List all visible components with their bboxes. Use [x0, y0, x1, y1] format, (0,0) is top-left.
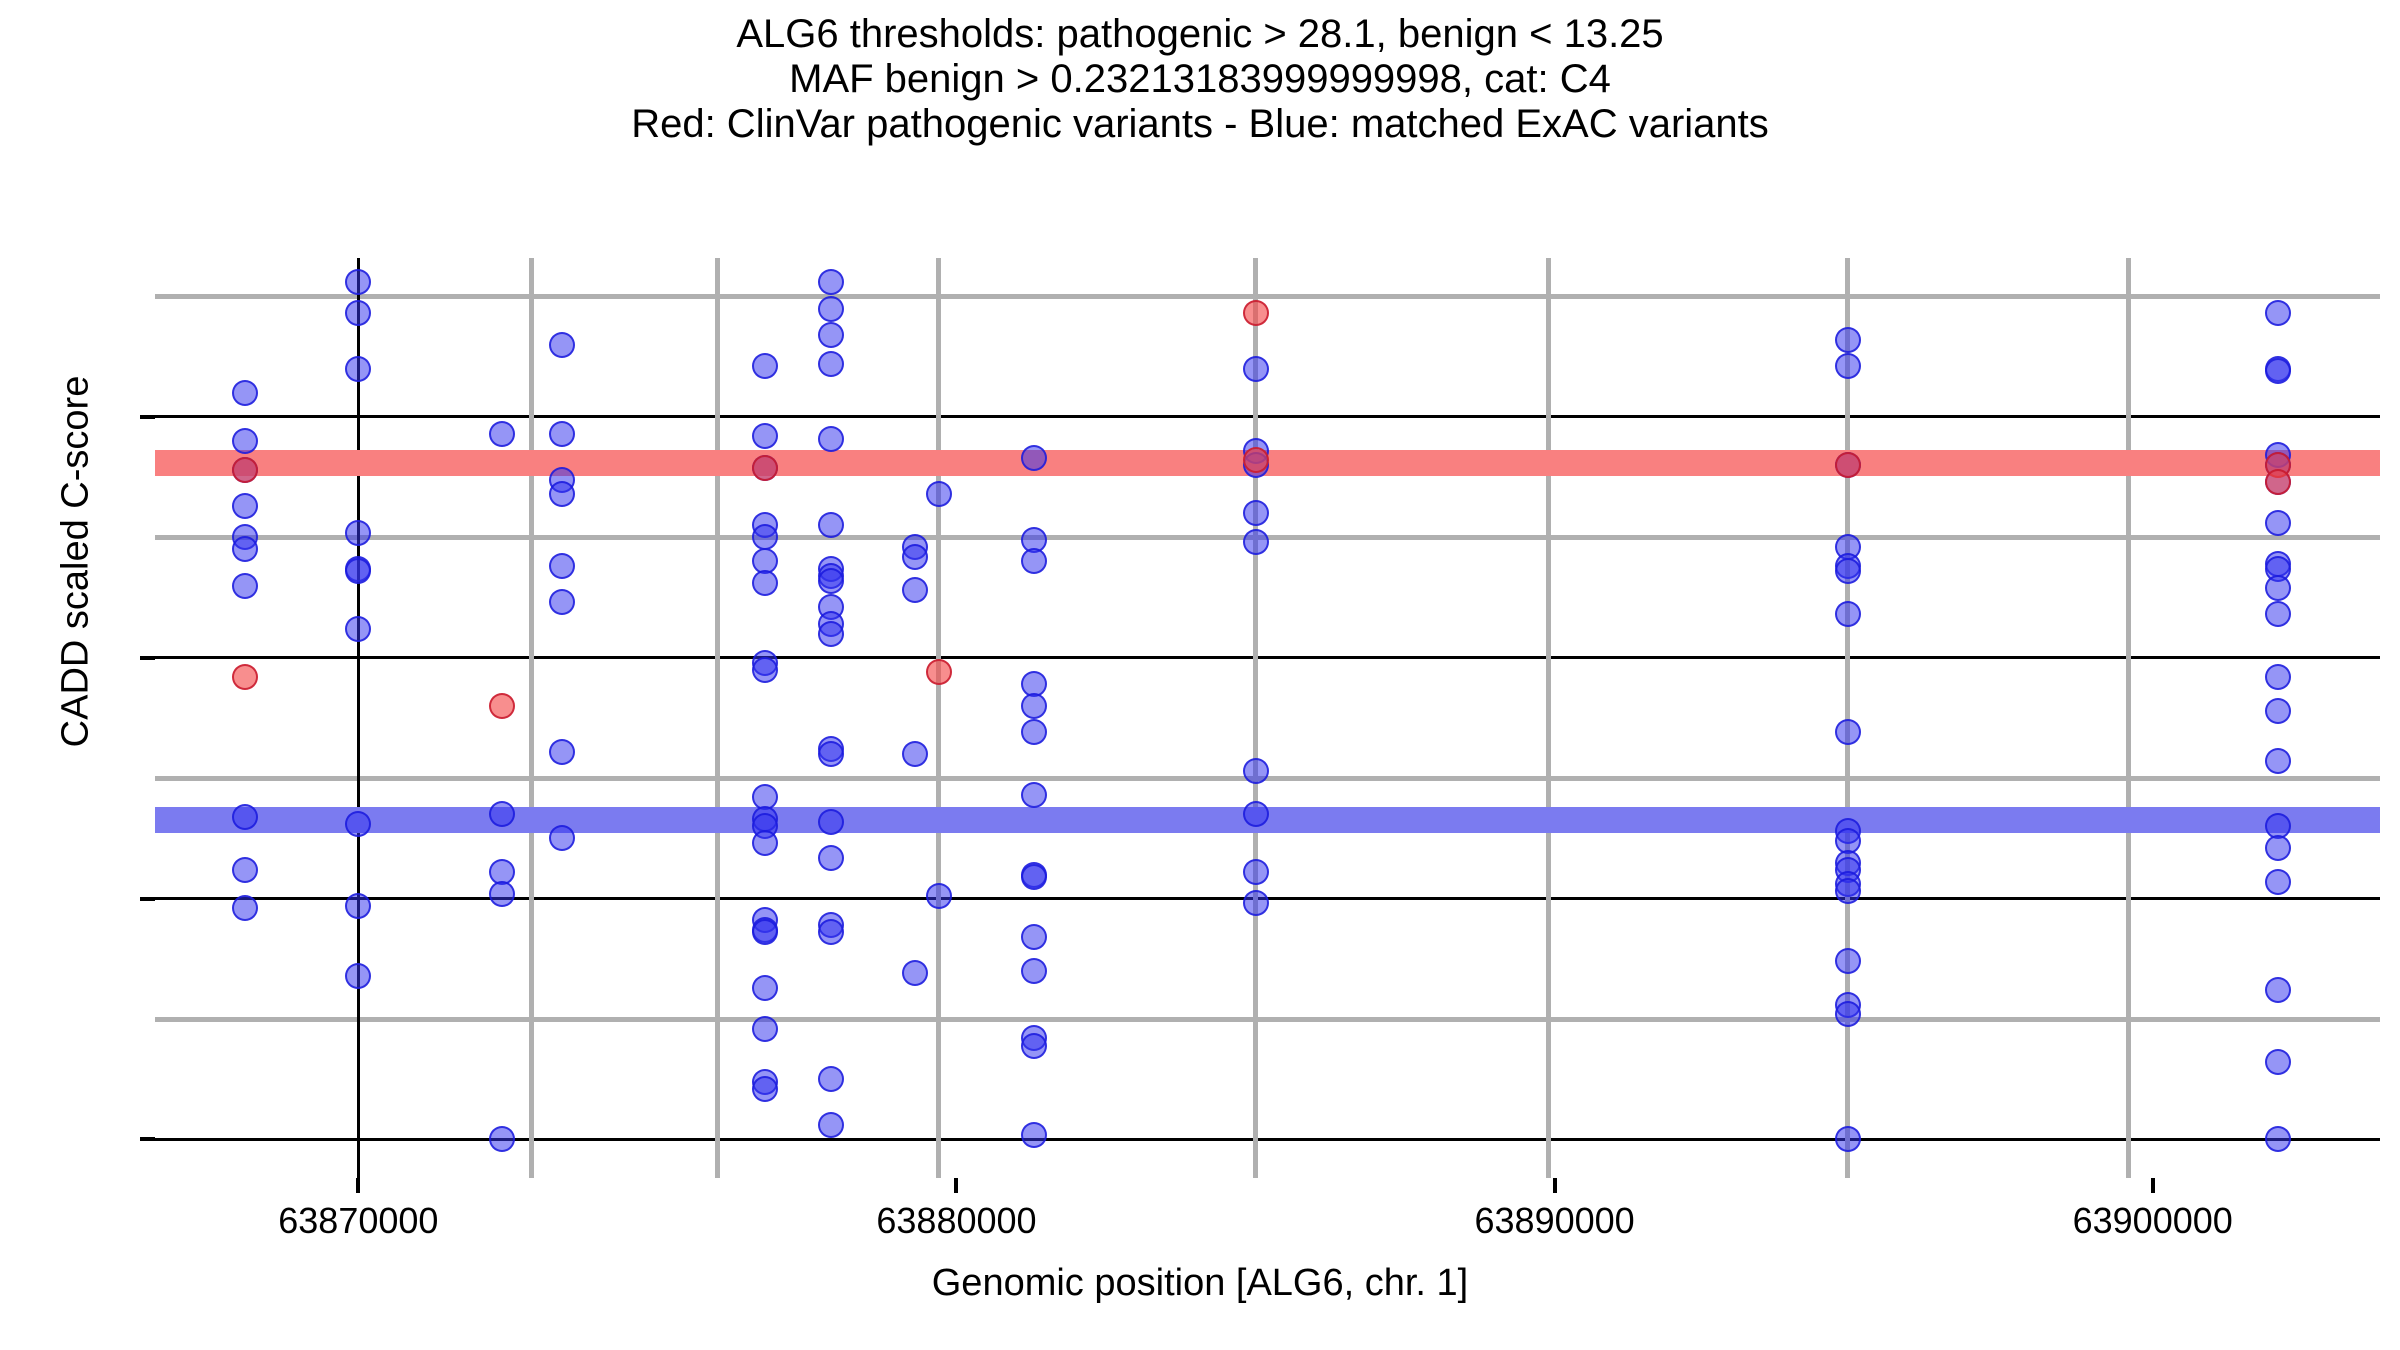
data-point-exac [232, 857, 258, 883]
data-point-exac [2265, 869, 2291, 895]
data-point-exac [818, 322, 844, 348]
data-point-pathogenic [1243, 300, 1269, 326]
data-point-exac [2265, 748, 2291, 774]
chart-title-line-2: MAF benign > 0.23213183999999998, cat: C… [0, 57, 2400, 102]
data-point-exac [2265, 575, 2291, 601]
y-tick-mark [140, 897, 155, 901]
data-point-exac [818, 351, 844, 377]
data-point-exac [345, 300, 371, 326]
x-tick-label: 63870000 [178, 1200, 538, 1242]
data-point-exac [818, 269, 844, 295]
data-point-exac [1835, 327, 1861, 353]
data-point-exac [549, 553, 575, 579]
data-point-exac [2265, 698, 2291, 724]
data-point-exac [752, 423, 778, 449]
plot-area [155, 258, 2380, 1178]
data-point-exac [1021, 1122, 1047, 1148]
gridline-horizontal [155, 1017, 2380, 1022]
data-point-exac [232, 895, 258, 921]
data-point-exac [1835, 558, 1861, 584]
data-point-exac [549, 739, 575, 765]
data-point-exac [1243, 890, 1269, 916]
data-point-exac [345, 269, 371, 295]
data-point-exac [2265, 664, 2291, 690]
data-point-exac [1021, 719, 1047, 745]
data-point-pathogenic [232, 457, 258, 483]
data-point-pathogenic [926, 659, 952, 685]
data-point-exac [549, 589, 575, 615]
data-point-exac [1021, 693, 1047, 719]
data-point-exac [1835, 948, 1861, 974]
x-tick-label: 63880000 [776, 1200, 1136, 1242]
data-point-exac [2265, 300, 2291, 326]
gridline-vertical [529, 258, 534, 1178]
data-point-exac [752, 657, 778, 683]
data-point-exac [752, 975, 778, 1001]
data-point-exac [902, 960, 928, 986]
data-point-exac [818, 1066, 844, 1092]
data-point-exac [1243, 529, 1269, 555]
data-point-exac [752, 830, 778, 856]
data-point-exac [549, 421, 575, 447]
gridline-vertical [1546, 258, 1551, 1178]
x-axis-label: Genomic position [ALG6, chr. 1] [0, 1262, 2400, 1305]
data-point-exac [2265, 835, 2291, 861]
chart-title: ALG6 thresholds: pathogenic > 28.1, beni… [0, 12, 2400, 148]
data-point-exac [752, 570, 778, 596]
data-point-exac [2265, 1049, 2291, 1075]
data-point-exac [232, 493, 258, 519]
data-point-exac [232, 573, 258, 599]
plot-canvas [155, 258, 2380, 1178]
chart-title-line-3: Red: ClinVar pathogenic variants - Blue:… [0, 102, 2400, 147]
gridline-vertical [1253, 258, 1258, 1178]
gridline-vertical [715, 258, 720, 1178]
data-point-exac [818, 512, 844, 538]
data-point-exac [2265, 358, 2291, 384]
data-point-exac [1835, 878, 1861, 904]
data-point-pathogenic [489, 693, 515, 719]
x-tick-label: 63890000 [1375, 1200, 1735, 1242]
data-point-pathogenic [1835, 452, 1861, 478]
data-point-pathogenic [1243, 447, 1269, 473]
data-point-exac [2265, 510, 2291, 536]
data-point-exac [818, 426, 844, 452]
data-point-exac [1243, 801, 1269, 827]
data-point-exac [1021, 548, 1047, 574]
data-point-exac [1835, 719, 1861, 745]
data-point-exac [232, 804, 258, 830]
data-point-exac [549, 332, 575, 358]
x-tick-mark [356, 1178, 360, 1193]
data-point-exac [1021, 782, 1047, 808]
x-tick-mark [954, 1178, 958, 1193]
data-point-exac [902, 544, 928, 570]
y-tick-mark [140, 1137, 155, 1141]
y-axis-label: CADD scaled C-score [55, 112, 98, 1012]
data-point-exac [489, 1126, 515, 1152]
data-point-exac [752, 524, 778, 550]
data-point-exac [232, 380, 258, 406]
data-point-exac [1243, 859, 1269, 885]
data-point-exac [1243, 500, 1269, 526]
data-point-exac [926, 883, 952, 909]
data-point-exac [489, 881, 515, 907]
gridline-vertical [357, 258, 360, 1178]
data-point-exac [1835, 353, 1861, 379]
data-point-exac [818, 845, 844, 871]
data-point-exac [345, 616, 371, 642]
data-point-exac [1243, 758, 1269, 784]
data-point-exac [2265, 601, 2291, 627]
data-point-exac [818, 919, 844, 945]
data-point-exac [902, 577, 928, 603]
data-point-exac [1021, 864, 1047, 890]
data-point-exac [818, 568, 844, 594]
data-point-exac [752, 353, 778, 379]
x-tick-mark [1553, 1178, 1557, 1193]
data-point-exac [818, 1112, 844, 1138]
data-point-pathogenic [2265, 469, 2291, 495]
data-point-exac [818, 296, 844, 322]
data-point-exac [1021, 1033, 1047, 1059]
data-point-pathogenic [232, 664, 258, 690]
data-point-exac [232, 428, 258, 454]
x-tick-label: 63900000 [1973, 1200, 2333, 1242]
gridline-horizontal [155, 656, 2380, 659]
data-point-exac [752, 1016, 778, 1042]
data-point-exac [752, 919, 778, 945]
data-point-exac [549, 825, 575, 851]
data-point-exac [345, 963, 371, 989]
data-point-exac [926, 481, 952, 507]
data-point-exac [549, 481, 575, 507]
data-point-exac [489, 421, 515, 447]
data-point-exac [345, 893, 371, 919]
data-point-exac [2265, 977, 2291, 1003]
x-tick-mark [2151, 1178, 2155, 1193]
data-point-exac [1835, 1126, 1861, 1152]
data-point-exac [1835, 1001, 1861, 1027]
chart-title-line-1: ALG6 thresholds: pathogenic > 28.1, beni… [0, 12, 2400, 57]
scatter-plot-figure: ALG6 thresholds: pathogenic > 28.1, beni… [0, 0, 2400, 1350]
gridline-horizontal [155, 294, 2380, 299]
gridline-horizontal [155, 415, 2380, 418]
data-point-exac [752, 1076, 778, 1102]
gridline-vertical [936, 258, 941, 1178]
data-point-exac [345, 520, 371, 546]
data-point-exac [345, 558, 371, 584]
gridline-vertical [2126, 258, 2131, 1178]
y-tick-mark [140, 656, 155, 660]
data-point-exac [1021, 445, 1047, 471]
data-point-pathogenic [752, 455, 778, 481]
data-point-exac [1021, 958, 1047, 984]
data-point-exac [1835, 601, 1861, 627]
y-tick-mark [140, 415, 155, 419]
data-point-exac [1021, 924, 1047, 950]
data-point-exac [232, 536, 258, 562]
data-point-exac [902, 741, 928, 767]
data-point-exac [818, 741, 844, 767]
data-point-exac [818, 621, 844, 647]
data-point-exac [1243, 356, 1269, 382]
gridline-vertical [1845, 258, 1850, 1178]
data-point-exac [345, 356, 371, 382]
data-point-exac [818, 809, 844, 835]
data-point-exac [2265, 1126, 2291, 1152]
